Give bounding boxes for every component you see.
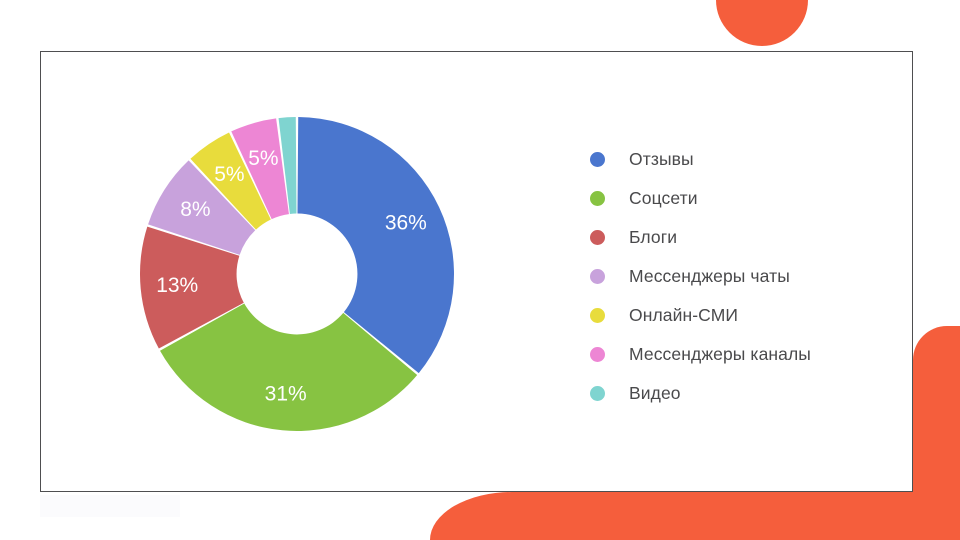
legend-swatch-icon [590,191,605,206]
legend-item-label: Соцсети [629,188,698,209]
decorative-block-bottom [430,492,960,540]
legend-item-label: Блоги [629,227,677,248]
legend-item-label: Мессенджеры чаты [629,266,790,287]
decorative-faint-rect [40,495,180,517]
legend-swatch-icon [590,230,605,245]
legend-swatch-icon [590,152,605,167]
donut-slice-value-label: 31% [265,382,307,405]
legend-swatch-icon [590,269,605,284]
donut-slice-value-label: 5% [248,147,278,170]
legend-item-blogi[interactable]: Блоги [590,218,890,257]
legend-item-messendzhery-kanaly[interactable]: Мессенджеры каналы [590,335,890,374]
donut-slice-value-label: 8% [180,198,210,221]
donut-chart: 36%31%13%8%5%5% [140,117,454,431]
legend-item-label: Видео [629,383,681,404]
chart-legend: Отзывы Соцсети Блоги Мессенджеры чаты Он… [590,140,890,413]
legend-item-label: Мессенджеры каналы [629,344,811,365]
donut-slice-value-label: 5% [214,163,244,186]
legend-item-socseti[interactable]: Соцсети [590,179,890,218]
legend-item-label: Отзывы [629,149,694,170]
legend-item-otzyvy[interactable]: Отзывы [590,140,890,179]
legend-item-messendzhery-chaty[interactable]: Мессенджеры чаты [590,257,890,296]
legend-item-label: Онлайн-СМИ [629,305,738,326]
legend-item-video[interactable]: Видео [590,374,890,413]
legend-swatch-icon [590,308,605,323]
legend-swatch-icon [590,347,605,362]
donut-chart-svg: 36%31%13%8%5%5% [140,117,454,431]
donut-slice-value-label: 36% [385,211,427,234]
decorative-circle-top [716,0,808,46]
legend-item-onlayn-smi[interactable]: Онлайн-СМИ [590,296,890,335]
legend-swatch-icon [590,386,605,401]
slide-canvas: 36%31%13%8%5%5% Отзывы Соцсети Блоги Мес… [0,0,960,540]
donut-slice-value-label: 13% [156,274,198,297]
